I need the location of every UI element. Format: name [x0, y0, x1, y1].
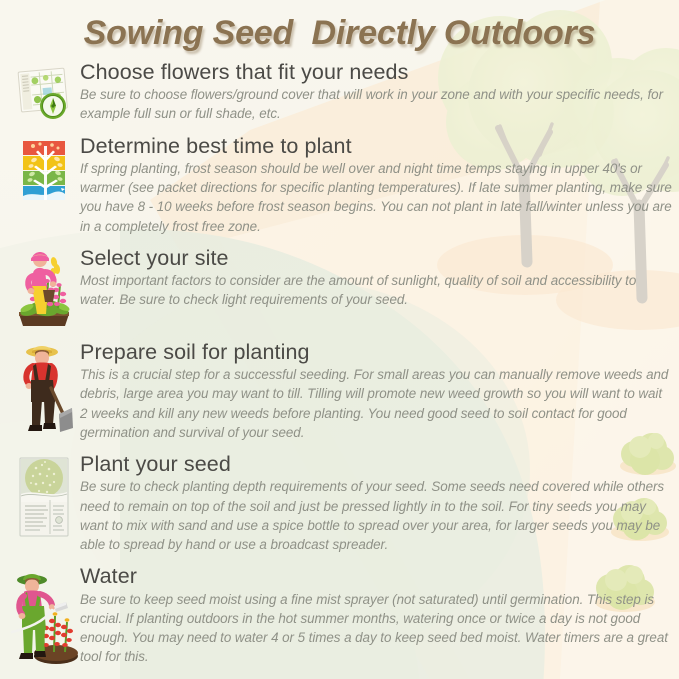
step-description: Be sure to keep seed moist using a fine …: [80, 590, 673, 667]
list-item: Prepare soil for planting This is a cruc…: [0, 340, 679, 442]
step-description: This is a crucial step for a successful …: [80, 365, 673, 442]
gardener-watering-icon: [10, 566, 78, 666]
step-icon-wrapper: [8, 564, 80, 666]
step-icon-wrapper: [8, 246, 80, 330]
gardener-with-shovel-icon: [15, 340, 73, 440]
step-text: Water Be sure to keep seed moist using a…: [80, 564, 679, 666]
step-description: Most important factors to consider are t…: [80, 271, 673, 310]
list-item: Select your site Most important factors …: [0, 246, 679, 330]
step-title: Determine best time to plant: [80, 134, 673, 158]
page-title: Sowing Seed Directly Outdoors: [0, 14, 679, 53]
step-text: Plant your seed Be sure to check plantin…: [80, 452, 679, 554]
step-icon-wrapper: [8, 452, 80, 538]
list-item: Determine best time to plant If spring p…: [0, 134, 679, 236]
step-description: If spring planting, frost season should …: [80, 159, 673, 236]
step-title: Prepare soil for planting: [80, 340, 673, 364]
step-icon-wrapper: [8, 134, 80, 204]
garden-plan-compass-icon: [15, 64, 73, 122]
step-text: Select your site Most important factors …: [80, 246, 679, 310]
step-title: Plant your seed: [80, 452, 673, 476]
list-item: Water Be sure to keep seed moist using a…: [0, 564, 679, 666]
compass-rose: [40, 93, 66, 119]
step-icon-wrapper: [8, 340, 80, 440]
step-text: Choose flowers that fit your needs Be su…: [80, 60, 679, 124]
gardener-planting-flowers-icon: [13, 246, 75, 330]
list-item: Choose flowers that fit your needs Be su…: [0, 60, 679, 124]
list-item: Plant your seed Be sure to check plantin…: [0, 452, 679, 554]
step-title: Choose flowers that fit your needs: [80, 60, 673, 84]
steps-list: Choose flowers that fit your needs Be su…: [0, 60, 679, 667]
step-icon-wrapper: [8, 60, 80, 122]
step-text: Prepare soil for planting This is a cruc…: [80, 340, 679, 442]
step-description: Be sure to check planting depth requirem…: [80, 477, 673, 554]
seed-packet-icon: [16, 456, 72, 538]
seed-texture: [25, 459, 63, 497]
four-seasons-icon: [19, 140, 69, 204]
step-title: Water: [80, 564, 673, 588]
step-text: Determine best time to plant If spring p…: [80, 134, 679, 236]
step-description: Be sure to choose flowers/ground cover t…: [80, 85, 673, 124]
step-title: Select your site: [80, 246, 673, 270]
infographic-poster: Sowing Seed Directly Outdoors: [0, 0, 679, 679]
poster-content: Sowing Seed Directly Outdoors: [0, 0, 679, 679]
